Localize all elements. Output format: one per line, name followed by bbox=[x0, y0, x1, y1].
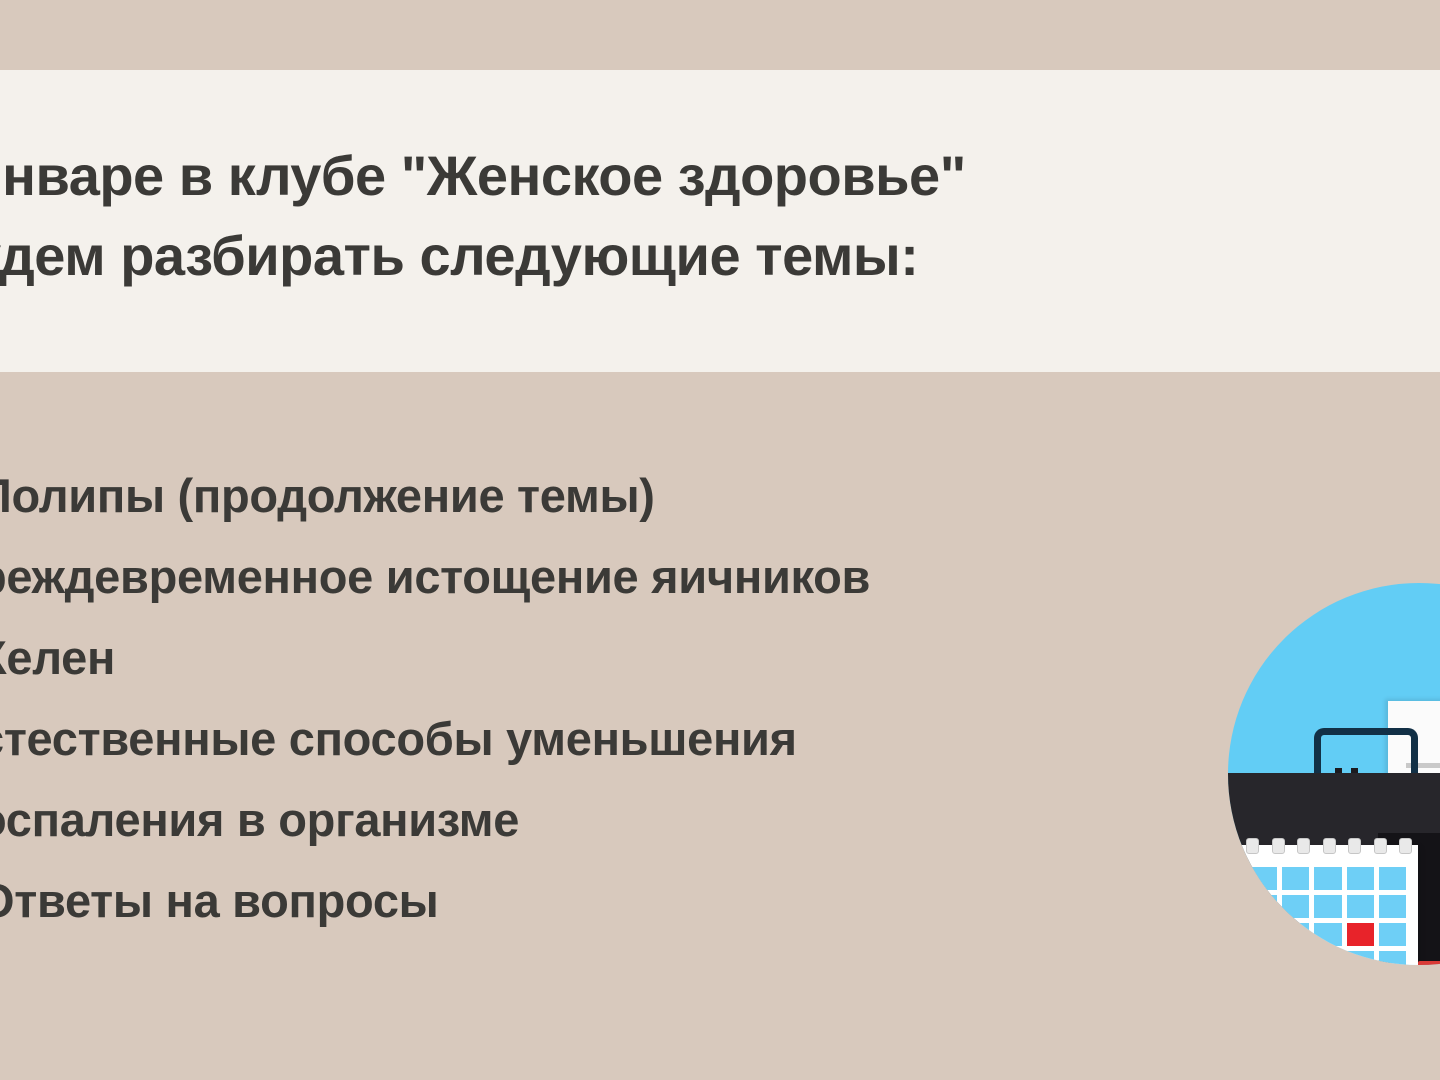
topic-list: Полипы (продолжение темы) реждевременное… bbox=[0, 455, 1298, 941]
calendar-marked-day bbox=[1347, 923, 1374, 946]
calendar-day-grid bbox=[1250, 867, 1406, 965]
calendar-day-cell bbox=[1250, 923, 1277, 946]
calendar-ring-icon bbox=[1272, 838, 1285, 854]
calendar-day-cell bbox=[1379, 895, 1406, 918]
calendar-day-cell bbox=[1314, 951, 1341, 965]
calendar-day-cell bbox=[1282, 951, 1309, 965]
calendar-ring-icon bbox=[1323, 838, 1336, 854]
calendar-ring-icon bbox=[1246, 838, 1259, 854]
pen-icon bbox=[1418, 961, 1440, 965]
calendar-day-cell bbox=[1250, 867, 1277, 890]
top-background-band bbox=[0, 0, 1440, 70]
list-item: Ответы на вопросы bbox=[0, 860, 1298, 941]
calendar-ring-icon bbox=[1297, 838, 1310, 854]
slide-title: январе в клубе "Женское здоровье" удем р… bbox=[0, 136, 1170, 296]
calendar-day-cell bbox=[1379, 923, 1406, 946]
calendar-day-cell bbox=[1347, 895, 1374, 918]
calendar-day-cell bbox=[1282, 867, 1309, 890]
calendar-icon bbox=[1238, 845, 1418, 965]
calendar-ring-icon bbox=[1374, 838, 1387, 854]
list-item: реждевременное истощение яичников bbox=[0, 536, 1298, 617]
list-item: Келен bbox=[0, 617, 1298, 698]
calendar-day-cell bbox=[1314, 895, 1341, 918]
title-line-2: удем разбирать следующие темы: bbox=[0, 216, 1170, 296]
list-item: Полипы (продолжение темы) bbox=[0, 455, 1298, 536]
calendar-rings bbox=[1246, 838, 1412, 854]
calendar-day-cell bbox=[1347, 867, 1374, 890]
calendar-ring-icon bbox=[1399, 838, 1412, 854]
calendar-day-cell bbox=[1379, 951, 1406, 965]
list-item: стественные способы уменьшения bbox=[0, 698, 1298, 779]
calendar-day-cell bbox=[1379, 867, 1406, 890]
illustration-circle-backdrop bbox=[1228, 583, 1440, 965]
calendar-briefcase-illustration bbox=[1228, 583, 1440, 983]
calendar-day-cell bbox=[1347, 951, 1374, 965]
calendar-day-cell bbox=[1250, 951, 1277, 965]
calendar-day-cell bbox=[1250, 895, 1277, 918]
list-item: оспаления в организме bbox=[0, 779, 1298, 860]
calendar-day-cell bbox=[1314, 867, 1341, 890]
slide-canvas: январе в клубе "Женское здоровье" удем р… bbox=[0, 0, 1440, 1080]
calendar-day-cell bbox=[1282, 895, 1309, 918]
calendar-day-cell bbox=[1314, 923, 1341, 946]
calendar-day-cell bbox=[1282, 923, 1309, 946]
title-line-1: январе в клубе "Женское здоровье" bbox=[0, 136, 1170, 216]
calendar-ring-icon bbox=[1348, 838, 1361, 854]
